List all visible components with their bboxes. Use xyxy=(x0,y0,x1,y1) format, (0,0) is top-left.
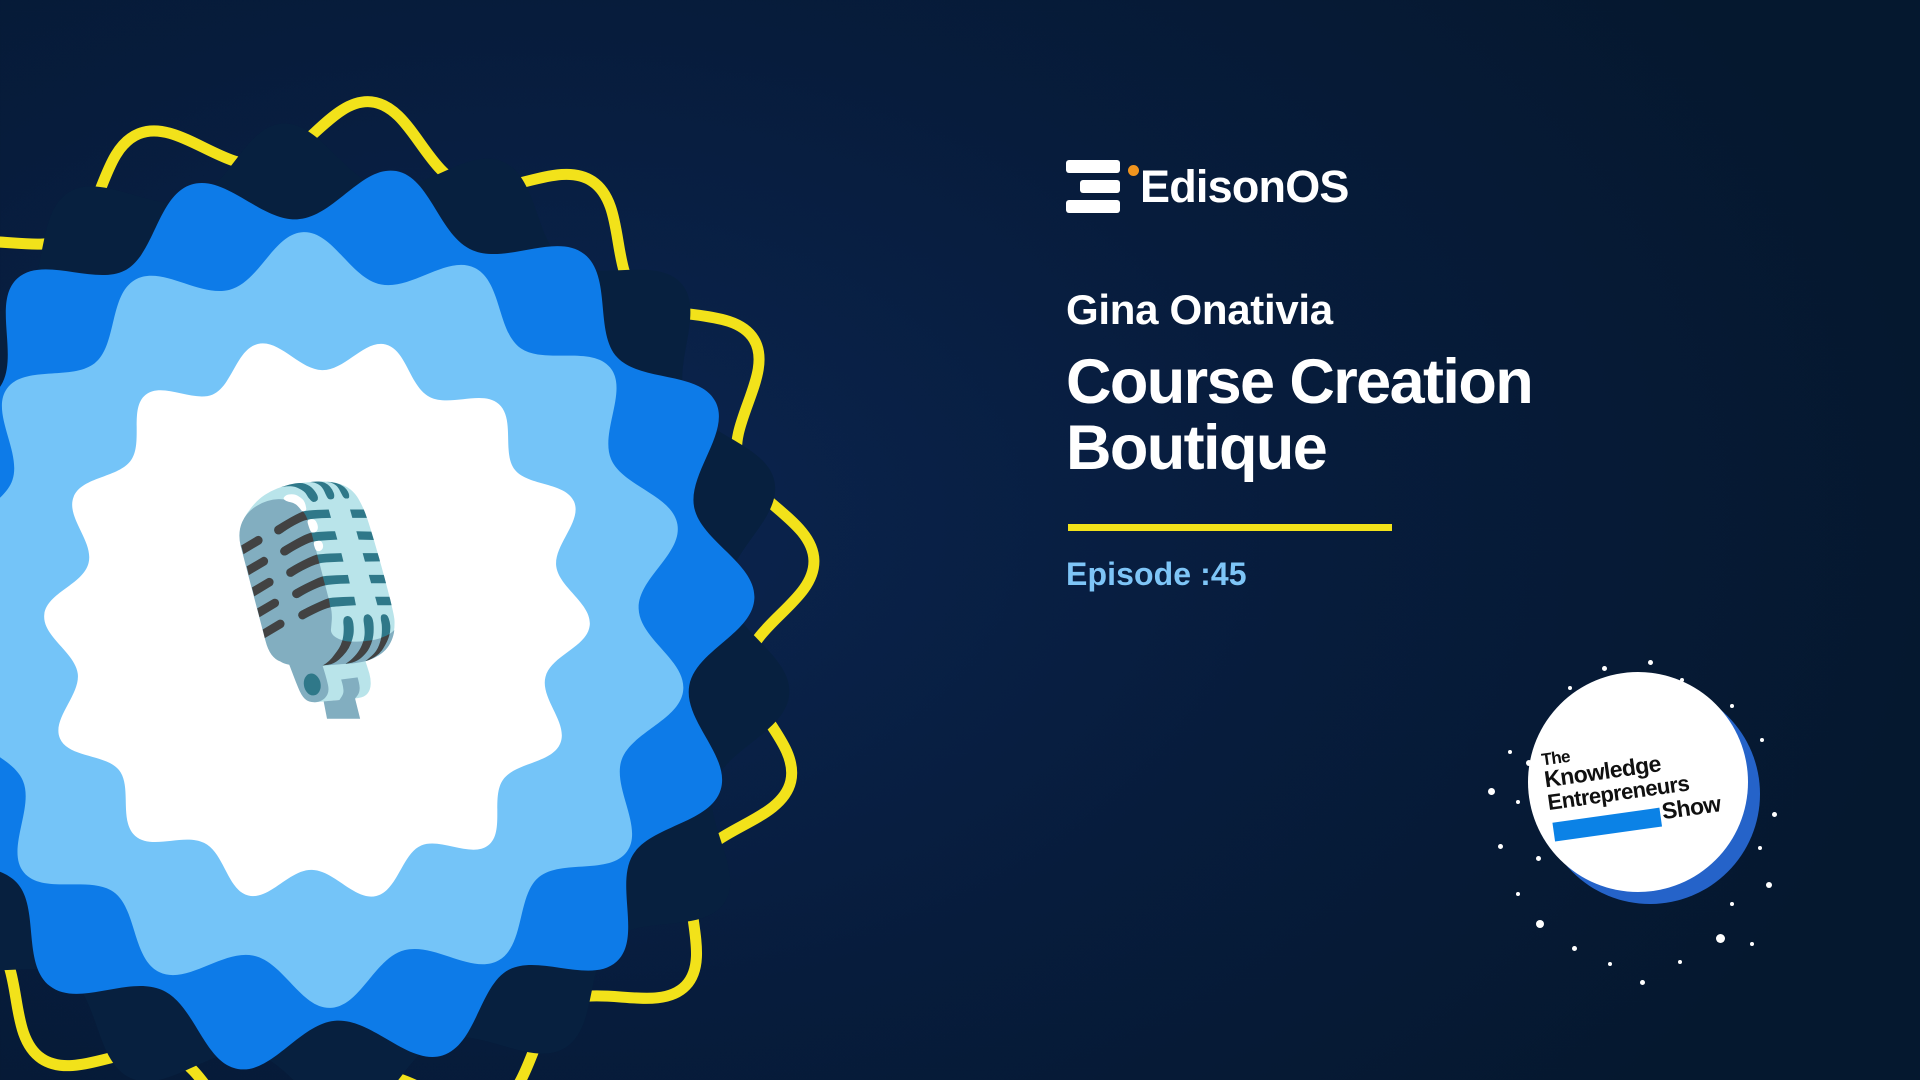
edisonos-logo[interactable]: EdisonOS xyxy=(1066,160,1349,213)
show-badge: The Knowledge Entrepreneurs Show xyxy=(1480,630,1800,970)
badge-blue-bar xyxy=(1552,808,1662,842)
podcast-artwork: 🎙️ xyxy=(0,94,822,1080)
brand-accent-dot-icon xyxy=(1128,165,1139,176)
episode-number: Episode :45 xyxy=(1066,556,1247,593)
title-underline-rule xyxy=(1068,524,1392,531)
brand-name: EdisonOS xyxy=(1140,161,1349,213)
host-name: Gina Onativia xyxy=(1066,286,1333,334)
badge-line-show: Show xyxy=(1660,792,1722,823)
badge-white-disc: The Knowledge Entrepreneurs Show xyxy=(1528,672,1748,892)
hamburger-bars-icon xyxy=(1066,160,1120,213)
badge-wordmark: The Knowledge Entrepreneurs Show xyxy=(1540,725,1741,844)
studio-microphone-icon: 🎙️ xyxy=(183,491,452,707)
episode-title: Course Creation Boutique xyxy=(1066,350,1706,481)
